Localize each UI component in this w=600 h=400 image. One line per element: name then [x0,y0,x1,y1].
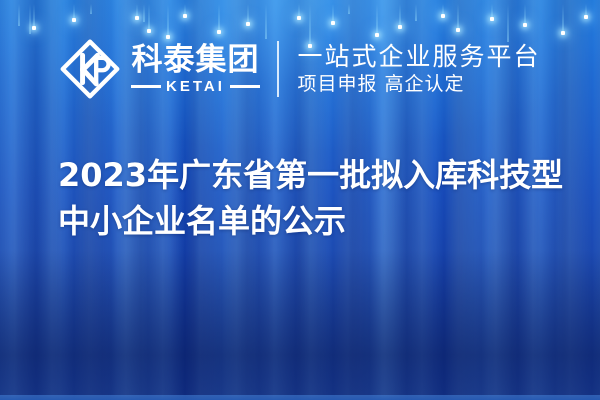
light-particle-dot [561,31,565,35]
light-particle [216,0,221,32]
light-particle-tail [399,4,400,27]
wordmark-rule-left [131,85,161,88]
light-particle-dot [135,16,139,20]
light-particle-dot [147,29,151,33]
light-particle-dot [523,23,527,27]
light-particle-tail [457,4,458,30]
light-particle [522,0,527,25]
light-particle-dot [297,16,301,20]
light-particle-dot [584,15,588,19]
light-particle-dot [441,14,445,18]
tagline-primary: 一站式企业服务平台 [297,43,540,71]
light-particle [346,0,351,14]
light-particle-tail [90,4,91,14]
bottom-shadow [0,250,600,400]
light-particle-dot [217,30,221,34]
light-particle-tail [33,4,34,28]
light-particle-dot [375,33,379,37]
banner-header: 科泰集团 KETAI 一站式企业服务平台 项目申报 高企认定 [0,38,600,100]
light-particle [440,0,445,16]
wordmark-rule-right [230,85,260,88]
light-particle-tail [507,4,508,42]
ketai-diamond-kp-logo-icon [59,38,121,100]
brand-logo[interactable]: 科泰集团 KETAI [59,38,259,100]
light-particle [31,0,36,28]
light-particle [88,0,93,14]
light-particle [374,0,379,35]
light-particle [397,0,402,27]
light-particle-dot [490,17,494,21]
light-particle-tail [143,4,144,22]
light-particle-tail [265,4,266,39]
light-particle [489,0,494,19]
light-particle-dot [72,18,76,22]
light-particle [455,0,460,30]
light-particle-dot [32,26,36,30]
light-particle-tail [18,4,19,26]
brand-name-en: KETAI [166,79,225,94]
light-particle [71,0,76,20]
announcement-title: 2023年广东省第一批拟入库科技型 中小企业名单的公示 [58,152,578,245]
light-particle [245,0,250,24]
light-particle [583,0,588,17]
light-particle-dot [183,14,187,18]
light-particle [330,0,335,23]
brand-wordmark: 科泰集团 KETAI [131,44,259,95]
header-divider [277,41,279,97]
light-particle-dot [246,22,250,26]
light-particle-tail [29,4,30,34]
brand-tagline: 一站式企业服务平台 项目申报 高企认定 [297,43,540,95]
light-particle [413,0,418,21]
light-particle [165,0,170,37]
light-particle-tail [524,4,525,25]
light-particle [146,0,151,31]
light-particle [182,0,187,16]
light-particle-tail [247,4,248,24]
brand-name-en-row: KETAI [131,79,259,94]
light-particle [560,0,565,33]
light-particle [505,0,510,42]
light-particle-tail [218,4,219,32]
light-particle [134,0,139,18]
light-particle-tail [415,4,416,21]
light-particle-tail [167,4,168,37]
light-particle-tail [348,4,349,14]
light-particle-dot [398,25,402,29]
light-particle-tail [148,4,149,31]
light-particle [16,0,21,26]
announcement-title-line-2: 中小企业名单的公示 [58,198,578,244]
bottom-edge-strip [0,395,600,400]
light-particle-dot [456,28,460,32]
light-particle [263,0,268,39]
light-particle-dot [331,21,335,25]
announcement-banner: 科泰集团 KETAI 一站式企业服务平台 项目申报 高企认定 2023年广东省第… [0,0,600,400]
light-particle-tail [562,4,563,33]
tagline-secondary: 项目申报 高企认定 [297,74,540,95]
light-particle [296,0,301,18]
brand-name-cn: 科泰集团 [131,44,259,77]
announcement-title-line-1: 2023年广东省第一批拟入库科技型 [58,152,578,198]
light-particle-tail [376,4,377,35]
